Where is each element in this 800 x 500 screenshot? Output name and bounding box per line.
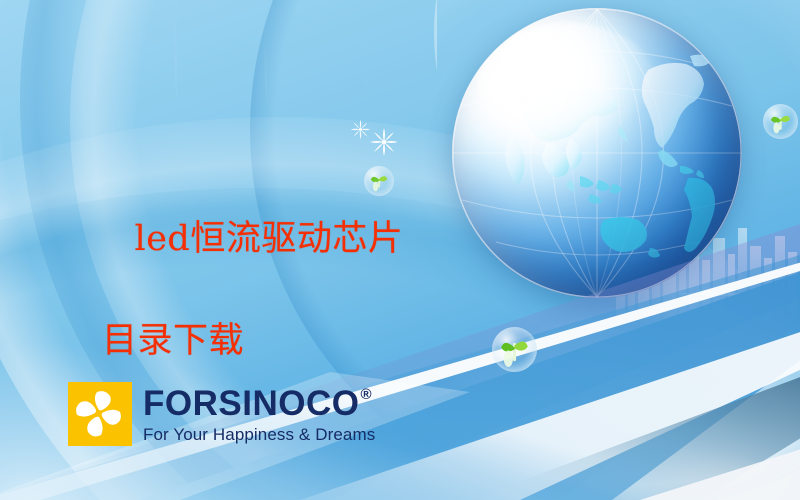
- green-sprout-icon: [763, 104, 798, 139]
- bubble-sprout-lower: [492, 327, 537, 372]
- headline-line-2: 目录下载: [88, 316, 403, 367]
- headline-line-1: led恒流驱动芯片: [135, 219, 404, 259]
- globe-graphic: [452, 8, 742, 298]
- green-sprout-icon: [492, 327, 537, 372]
- brand-name-wrap: FORSINOCO ®: [143, 386, 375, 421]
- brand-logo[interactable]: FORSINOCO ® For Your Happiness & Dreams: [68, 382, 375, 446]
- brand-name: FORSINOCO: [143, 386, 359, 421]
- globe-sphere: [452, 8, 742, 298]
- registered-trademark-icon: ®: [360, 387, 372, 402]
- logo-text-block: FORSINOCO ® For Your Happiness & Dreams: [143, 386, 375, 443]
- promotional-banner: led恒流驱动芯片 目录下载 FORSINOCO ® For Your Happ…: [0, 0, 800, 500]
- brand-tagline: For Your Happiness & Dreams: [143, 426, 375, 443]
- forsinoco-pinwheel-mark-icon: [68, 382, 132, 446]
- pinwheel-petals-icon: [68, 382, 132, 446]
- globe-rim-light: [452, 8, 742, 298]
- bubble-sprout-corner: [763, 104, 798, 139]
